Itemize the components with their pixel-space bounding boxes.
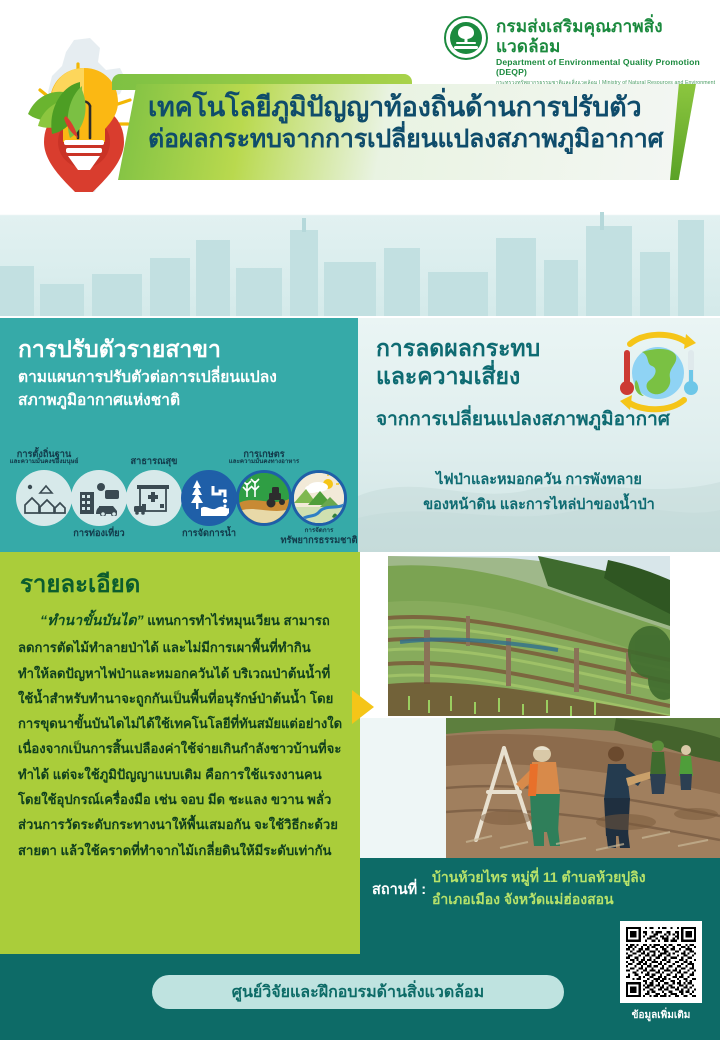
farmers-leveling-field-photo [446,718,720,858]
footer-organization-label: ศูนย์วิจัยและฝึกอบรมด้านสิ่งแวดล้อม [232,980,484,1005]
mitigation-body-line2: ของหน้าดิน และการไหล่บ่าของน้ำป่า [358,493,720,518]
location-line2: อำเภอเมือง จังหวัดแม่ฮ่องสอน [432,888,714,910]
mitigation-heading: การลดผลกระทบ และความเสี่ยง [376,334,540,390]
technology-name-band: ชื่อเทคโนโลยี : “ทำนาขั้นบันได” ลดการตัด… [0,192,720,316]
city-skyline-decoration [0,212,720,316]
thermometer-hot-icon [620,350,634,395]
mitigation-heading-line2: และความเสี่ยง [376,362,540,390]
sector-label-agriculture: การเกษตร และความมั่นคงทางอาหาร [189,449,339,466]
sector-item-water[interactable]: การจัดการน้ำ [181,470,237,526]
hospital-icon [126,470,182,526]
mitigation-panel: การลดผลกระทบ และความเสี่ยง จากการเปลี่ยน… [358,318,720,552]
details-body-text: แทนการทำไร่หมุนเวียน สามารถลดการตัดไม้ทำ… [18,613,342,858]
sector-item-health[interactable]: สาธารณสุข [126,470,182,526]
thermometer-cold-icon [684,350,698,395]
adaptation-heading: การปรับตัวรายสาขา [18,332,221,368]
org-name-en: Department of Environmental Quality Prom… [496,57,720,77]
mitigation-heading-line1: การลดผลกระทบ [376,334,540,362]
main-title-line1: เทคโนโลยีภูมิปัญญาท้องถิ่นด้านการปรับตัว [148,92,678,124]
footer-organization-pill: ศูนย์วิจัยและฝึกอบรมด้านสิ่งแวดล้อม [152,975,564,1009]
city-tourism-icon [71,470,127,526]
sector-icon-row: การตั้งถิ่นฐาน และความมั่นคงของมนุษย์ [8,470,354,532]
natural-resources-icon [291,470,347,526]
poster-root: เทคโนโลยีภูมิปัญญาท้องถิ่นด้านการปรับตัว… [0,0,720,1040]
main-title: เทคโนโลยีภูมิปัญญาท้องถิ่นด้านการปรับตัว… [148,92,678,154]
main-title-line2: ต่อผลกระทบจากการเปลี่ยนแปลงสภาพภูมิอากาศ [148,125,678,155]
details-panel: รายละเอียด “ทำนาขั้นบันได” แทนการทำไร่หม… [0,552,360,954]
mitigation-body-line1: ไฟป่าและหมอกควัน การพังทลาย [358,468,720,493]
deqp-logo-block: กรมส่งเสริมคุณภาพสิ่งแวดล้อม Department … [444,16,720,87]
adaptation-subheading: ตามแผนการปรับตัวต่อการเปลี่ยนแปลง สภาพภู… [18,366,348,413]
village-houses-icon [16,470,72,526]
location-text: บ้านห้วยไทร หมู่ที่ 11 ตำบลห้วยปูลิง อำเ… [432,866,714,911]
details-body: “ทำนาขั้นบันได” แทนการทำไร่หมุนเวียน สาม… [18,608,344,863]
sector-item-settlement[interactable]: การตั้งถิ่นฐาน และความมั่นคงของมนุษย์ [16,470,72,526]
sector-item-natural-resources[interactable]: การจัดการ ทรัพยากรธรรมชาติ [291,470,347,526]
terraced-rice-field-photo [388,556,670,716]
details-heading: รายละเอียด [20,564,140,603]
details-lead: “ทำนาขั้นบันได” [40,613,144,629]
adaptation-subheading-line2: สภาพภูมิอากาศแห่งชาติ [18,389,348,412]
sector-item-agriculture[interactable]: การเกษตร และความมั่นคงทางอาหาร [236,470,292,526]
org-ministry: กระทรวงทรัพยากรธรรมชาติและสิ่งแวดล้อม I … [496,79,720,87]
header-band: เทคโนโลยีภูมิปัญญาท้องถิ่นด้านการปรับตัว… [0,0,720,192]
sector-item-tourism[interactable]: การท่องเที่ยว [71,470,127,526]
qr-code-icon[interactable] [620,921,702,1003]
org-name-th: กรมส่งเสริมคุณภาพสิ่งแวดล้อม [496,17,720,56]
agriculture-tractor-icon [236,470,292,526]
deqp-seal-icon [444,16,488,60]
globe-thermometer-icon [600,330,704,416]
location-label: สถานที่ : [372,878,426,901]
adaptation-subheading-line1: ตามแผนการปรับตัวต่อการเปลี่ยนแปลง [18,366,348,389]
mitigation-body: ไฟป่าและหมอกควัน การพังทลาย ของหน้าดิน แ… [358,468,720,518]
qr-caption: ข้อมูลเพิ่มเติม [612,1008,710,1023]
photo-gutter [360,718,446,858]
location-line1: บ้านห้วยไทร หมู่ที่ 11 ตำบลห้วยปูลิง [432,866,714,888]
water-tap-river-icon [181,470,237,526]
